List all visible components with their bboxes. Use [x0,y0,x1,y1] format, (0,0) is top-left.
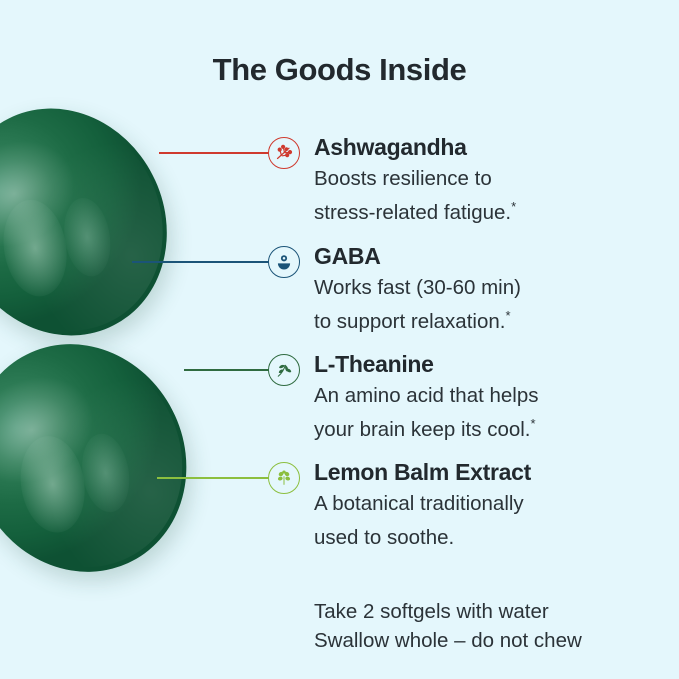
softgel-capsule-bottom [0,307,225,609]
ashwagandha-berry-sprig-icon [268,137,300,169]
directions-text: Take 2 softgels with water Swallow whole… [314,597,582,655]
ingredient-name: Ashwagandha [314,134,467,161]
page-title: The Goods Inside [0,52,679,88]
ingredient-description-text: Works fast (30-60 min) to support relaxa… [314,276,521,333]
ingredient-name: GABA [314,243,381,270]
lemon-balm-sprout-icon [268,462,300,494]
connector-line-ashwagandha [159,152,271,154]
tea-leaf-sprig-icon [268,354,300,386]
ingredient-description: Boosts resilience to stress-related fati… [314,165,516,227]
ingredient-description: An amino acid that helps your brain keep… [314,382,539,444]
ingredient-name: L-Theanine [314,351,434,378]
ingredient-description-text: A botanical traditionally used to soothe… [314,492,524,549]
connector-line-lemon-balm [157,477,271,479]
softgel-capsule-top [0,72,205,372]
ingredient-name: Lemon Balm Extract [314,459,531,486]
ingredient-footnote-marker: * [531,416,536,431]
ingredient-description-text: Boosts resilience to stress-related fati… [314,167,511,224]
gaba-molecule-drop-icon [268,246,300,278]
ingredient-description: Works fast (30-60 min) to support relaxa… [314,274,521,336]
ingredient-footnote-marker: * [505,308,510,323]
ingredient-footnote-marker: * [511,199,516,214]
ingredient-description-text: An amino acid that helps your brain keep… [314,384,539,441]
connector-line-l-theanine [184,369,271,371]
ingredient-description: A botanical traditionally used to soothe… [314,490,524,552]
connector-line-gaba [132,261,271,263]
infographic-canvas: The Goods Inside [0,0,679,679]
